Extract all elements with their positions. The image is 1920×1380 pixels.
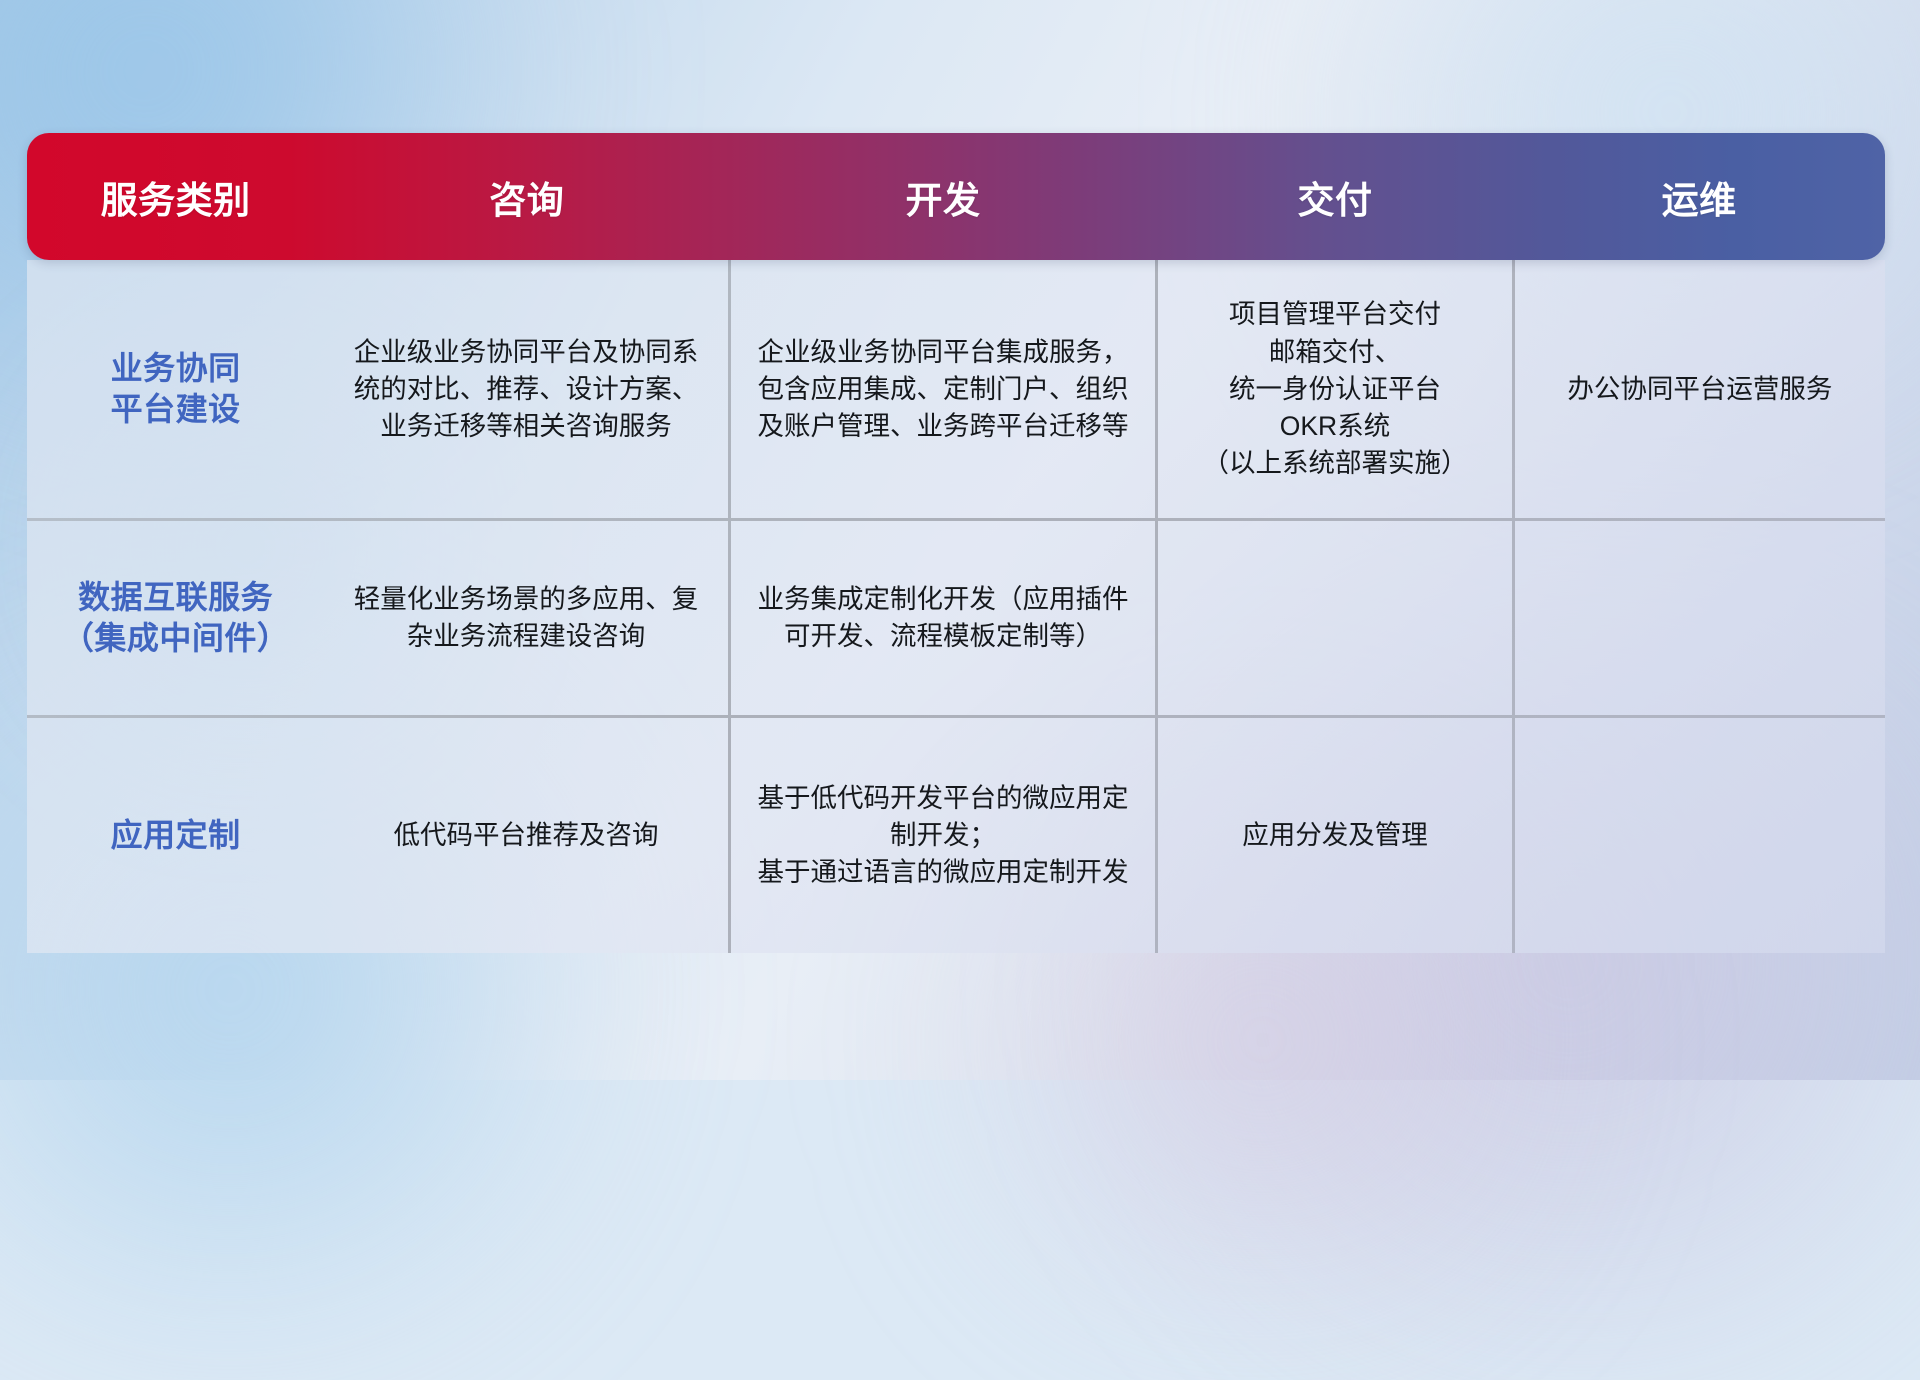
cell-text-line: （以上系统部署实施）	[1172, 445, 1498, 482]
table-row: 应用定制低代码平台推荐及咨询基于低代码开发平台的微应用定制开发；基于通过语言的微…	[27, 717, 1885, 953]
cell-ops-row2	[1513, 520, 1885, 717]
row-label-line: 业务协同	[41, 348, 310, 390]
cell-text-line: 业务迁移等相关咨询服务	[338, 408, 714, 445]
cell-text-line: 可开发、流程模板定制等）	[745, 618, 1141, 655]
row-label-line: 平台建设	[41, 389, 310, 431]
cell-delivery-row2	[1157, 520, 1514, 717]
cell-consulting-row2: 轻量化业务场景的多应用、复杂业务流程建设咨询	[324, 520, 729, 717]
cell-ops-row1: 办公协同平台运营服务	[1513, 260, 1885, 520]
cell-consulting-row3: 低代码平台推荐及咨询	[324, 717, 729, 953]
cell-text-line: 企业级业务协同平台集成服务，	[745, 334, 1141, 371]
row-label-1: 业务协同平台建设	[27, 260, 324, 520]
cell-text-line: 及账户管理、业务跨平台迁移等	[745, 408, 1141, 445]
cell-text-line: OKR系统	[1172, 408, 1498, 445]
cell-text-line: 基于通过语言的微应用定制开发	[745, 854, 1141, 891]
service-matrix: 服务类别 咨询 开发 交付 运维 业务协同平台建设企业级业务协同平台及协同系统的…	[27, 133, 1885, 953]
cell-text-line: 办公协同平台运营服务	[1529, 371, 1871, 408]
table-body: 业务协同平台建设企业级业务协同平台及协同系统的对比、推荐、设计方案、业务迁移等相…	[27, 260, 1885, 953]
cell-text-line: 业务集成定制化开发（应用插件	[745, 581, 1141, 618]
row-label-line: （集成中间件）	[41, 618, 310, 660]
row-label-line: 数据互联服务	[41, 577, 310, 619]
cell-consulting-row1: 企业级业务协同平台及协同系统的对比、推荐、设计方案、业务迁移等相关咨询服务	[324, 260, 729, 520]
cell-development-row3: 基于低代码开发平台的微应用定制开发；基于通过语言的微应用定制开发	[729, 717, 1156, 953]
cell-text-line: 基于低代码开发平台的微应用定	[745, 780, 1141, 817]
table-header-bar	[27, 133, 1885, 260]
cell-delivery-row1: 项目管理平台交付邮箱交付、统一身份认证平台OKR系统（以上系统部署实施）	[1157, 260, 1514, 520]
table-row: 数据互联服务（集成中间件）轻量化业务场景的多应用、复杂业务流程建设咨询业务集成定…	[27, 520, 1885, 717]
cell-text-line: 低代码平台推荐及咨询	[338, 817, 714, 854]
cell-development-row1: 企业级业务协同平台集成服务，包含应用集成、定制门户、组织及账户管理、业务跨平台迁…	[729, 260, 1156, 520]
row-label-2: 数据互联服务（集成中间件）	[27, 520, 324, 717]
cell-text-line: 应用分发及管理	[1172, 817, 1498, 854]
cell-delivery-row3: 应用分发及管理	[1157, 717, 1514, 953]
table-row: 业务协同平台建设企业级业务协同平台及协同系统的对比、推荐、设计方案、业务迁移等相…	[27, 260, 1885, 520]
cell-text-line: 统一身份认证平台	[1172, 371, 1498, 408]
cell-text-line: 统的对比、推荐、设计方案、	[338, 371, 714, 408]
cell-text-line: 制开发；	[745, 817, 1141, 854]
cell-text-line: 企业级业务协同平台及协同系	[338, 334, 714, 371]
cell-ops-row3	[1513, 717, 1885, 953]
cell-text-line: 邮箱交付、	[1172, 334, 1498, 371]
cell-development-row2: 业务集成定制化开发（应用插件可开发、流程模板定制等）	[729, 520, 1156, 717]
cell-text-line: 包含应用集成、定制门户、组织	[745, 371, 1141, 408]
cell-text-line: 项目管理平台交付	[1172, 296, 1498, 333]
cell-text-line: 轻量化业务场景的多应用、复	[338, 581, 714, 618]
row-label-line: 应用定制	[41, 815, 310, 857]
cell-text-line: 杂业务流程建设咨询	[338, 618, 714, 655]
row-label-3: 应用定制	[27, 717, 324, 953]
